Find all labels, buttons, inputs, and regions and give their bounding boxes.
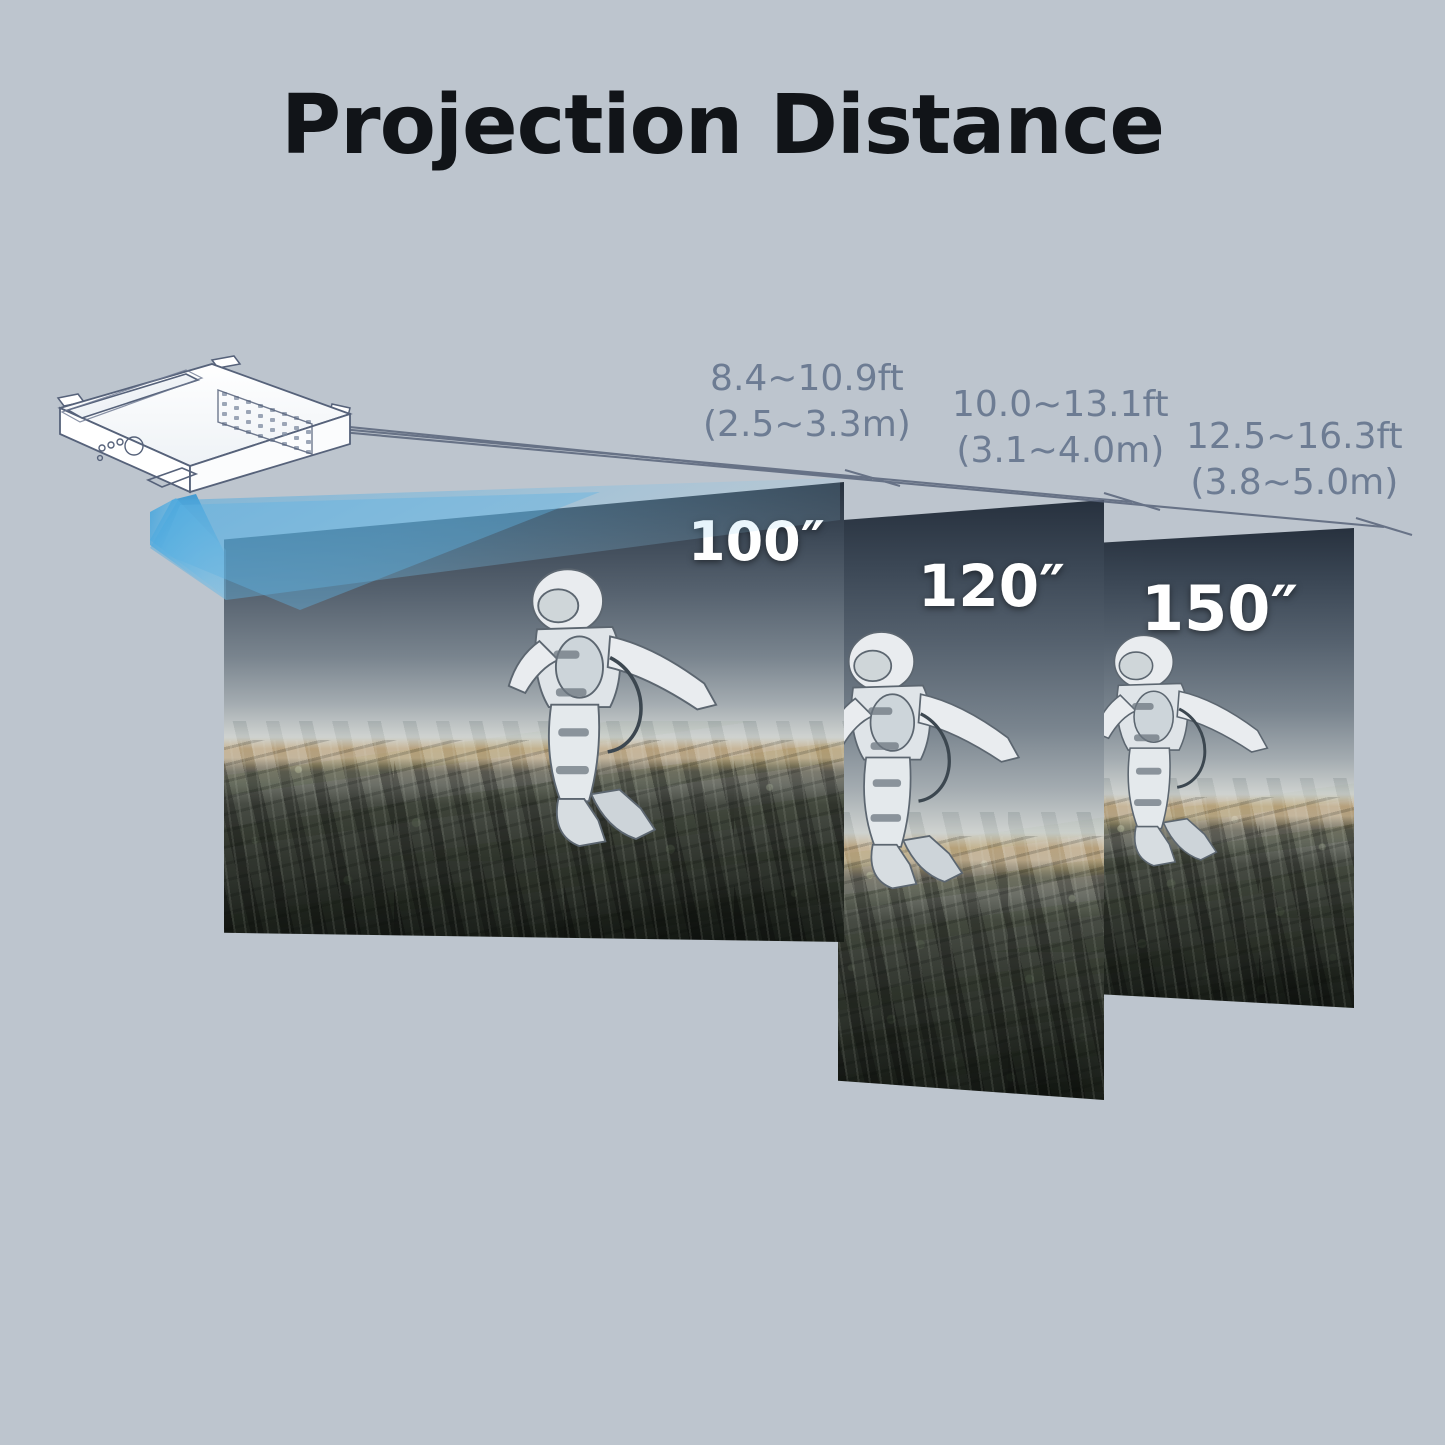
screen-120: 120″ (838, 500, 1104, 1100)
astronaut-figure (497, 537, 733, 887)
measure-tick-120 (1104, 493, 1160, 510)
projection-distance-diagram: Projection Distance (0, 0, 1445, 1445)
distance-m-150: (3.8~5.0m) (1186, 460, 1403, 506)
screen-150-size-label: 150″ (1141, 572, 1298, 645)
page-title: Projection Distance (0, 78, 1445, 173)
distance-label-120: 10.0~13.1ft (3.1~4.0m) (952, 382, 1169, 474)
distance-label-100: 8.4~10.9ft (2.5~3.3m) (703, 356, 911, 448)
screen-100-size-label: 100″ (688, 510, 825, 573)
distance-ft-150: 12.5~16.3ft (1186, 414, 1403, 460)
distance-m-100: (2.5~3.3m) (703, 402, 911, 448)
projector-illustration (36, 352, 366, 532)
measure-tick-100 (845, 470, 900, 486)
screen-120-size-label: 120″ (918, 552, 1065, 620)
distance-label-150: 12.5~16.3ft (3.8~5.0m) (1186, 414, 1403, 506)
screen-150: 150″ (1089, 528, 1354, 1008)
distance-m-120: (3.1~4.0m) (952, 428, 1169, 474)
distance-ft-100: 8.4~10.9ft (703, 356, 911, 402)
measure-tick-150 (1356, 518, 1412, 535)
distance-ft-120: 10.0~13.1ft (952, 382, 1169, 428)
screen-100: 100″ (224, 482, 844, 942)
